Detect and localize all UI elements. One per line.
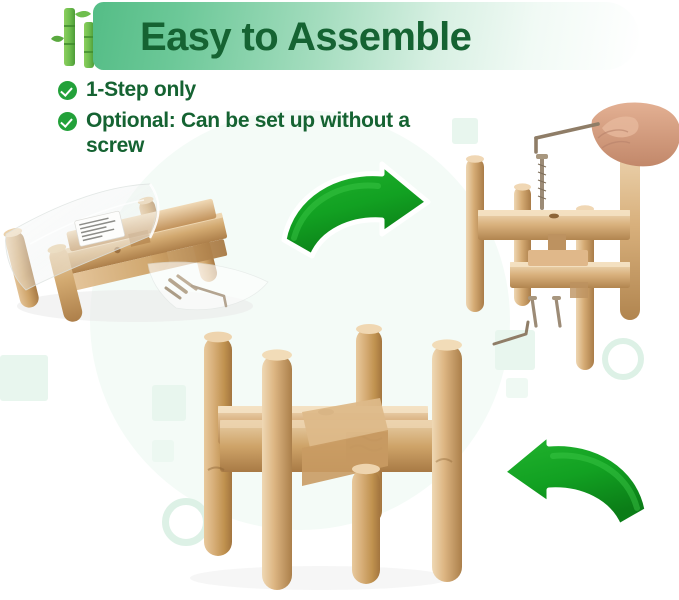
bullet-label: Optional: Can be set up without a screw xyxy=(86,109,416,158)
arrow-packaged-to-parts xyxy=(278,162,438,267)
screw xyxy=(536,154,548,208)
arrow-parts-to-assembled xyxy=(488,432,653,540)
feature-bullet-list: 1-Step only Optional: Can be set up with… xyxy=(58,78,458,165)
infographic-canvas: Easy to Assemble 1-Step only Optional: C… xyxy=(0,0,679,600)
list-item: Optional: Can be set up without a screw xyxy=(58,109,458,158)
bullet-label: 1-Step only xyxy=(86,78,196,102)
page-title: Easy to Assemble xyxy=(140,8,610,66)
packaged-parts-photo xyxy=(0,178,290,328)
hand xyxy=(592,102,679,166)
list-item: 1-Step only xyxy=(58,78,458,102)
bg-square-decor xyxy=(24,355,48,379)
check-circle-icon xyxy=(58,81,77,100)
check-circle-icon xyxy=(58,112,77,131)
assembled-stand-photo xyxy=(150,320,490,590)
allen-key xyxy=(536,124,598,152)
